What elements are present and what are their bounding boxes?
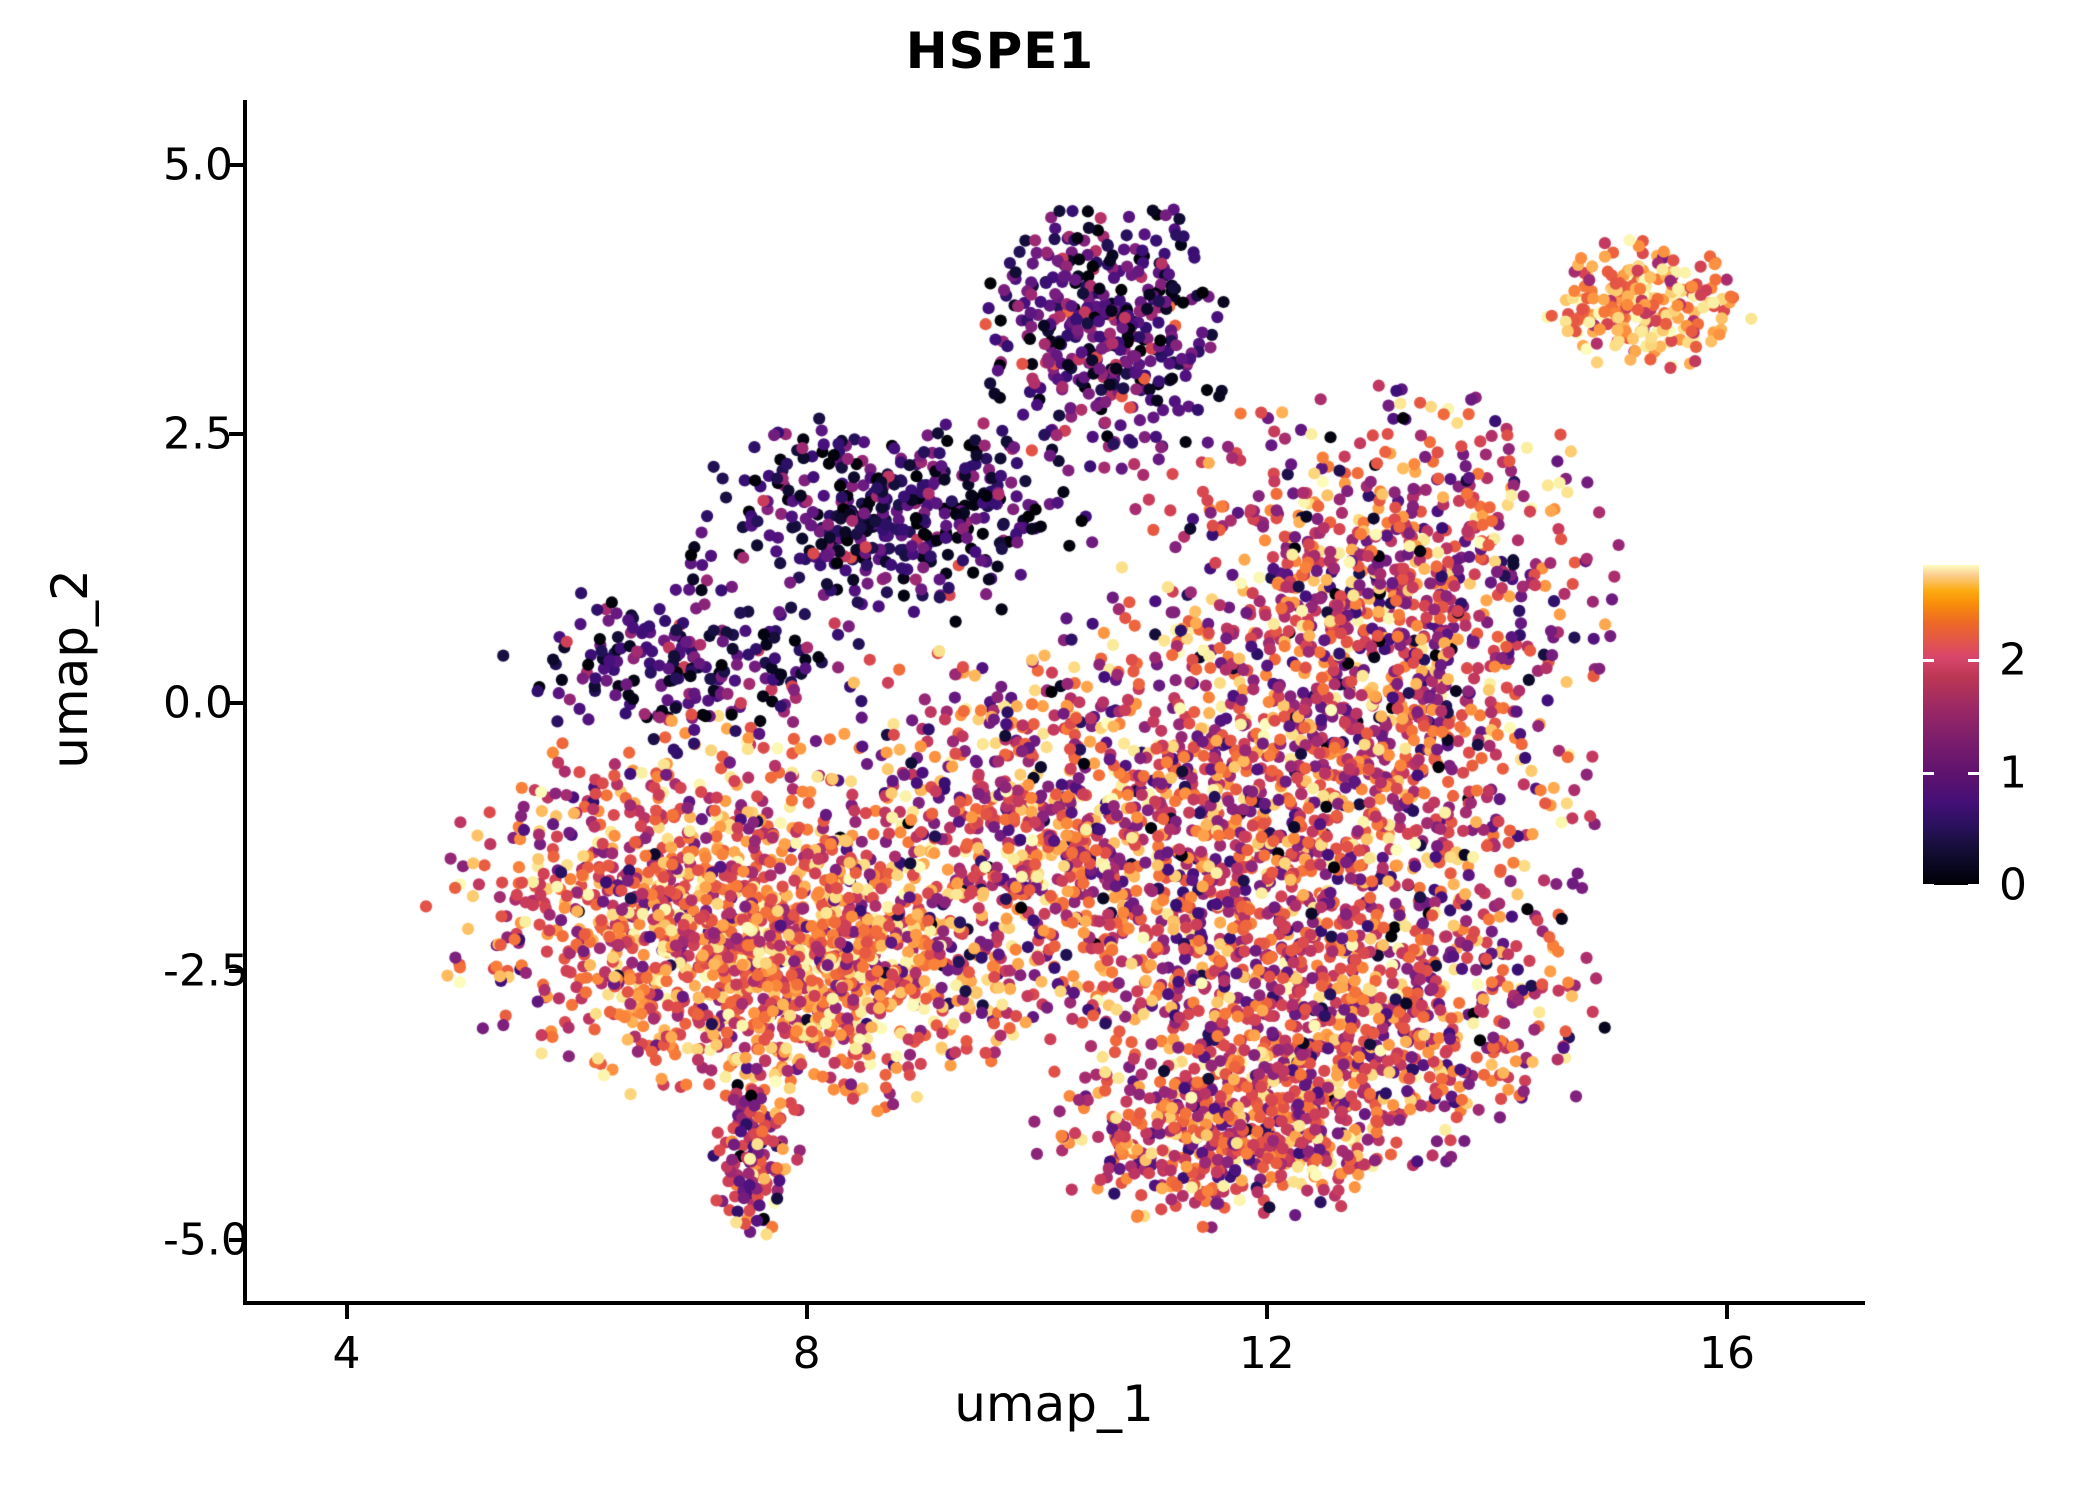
- y-tick-label: 5.0: [163, 139, 203, 190]
- colorbar-tick-mark: [1968, 772, 1979, 775]
- x-tick-mark: [805, 1305, 809, 1319]
- plot-axes: -5.0-2.50.02.55.0 481216: [243, 100, 1865, 1305]
- colorbar-tick-mark: [1923, 659, 1934, 662]
- page-title: HSPE1: [0, 22, 2000, 80]
- x-tick-label: 12: [1239, 1328, 1295, 1379]
- y-tick-label: 2.5: [163, 408, 203, 459]
- colorbar: 012: [1923, 565, 1979, 885]
- x-axis-spine: [243, 1301, 1865, 1305]
- x-axis-label: umap_1: [243, 1375, 1865, 1433]
- colorbar-tick-label: 0: [1999, 860, 2027, 911]
- colorbar-tick-label: 1: [1999, 747, 2027, 798]
- colorbar-tick-label: 2: [1999, 635, 2027, 686]
- colorbar-tick-mark: [1968, 659, 1979, 662]
- colorbar-tick-mark: [1923, 772, 1934, 775]
- scatter-points-canvas: [243, 100, 1865, 1305]
- x-tick-label: 4: [333, 1328, 361, 1379]
- y-tick-label: 0.0: [163, 677, 203, 728]
- x-tick-mark: [1725, 1305, 1729, 1319]
- x-tick-mark: [345, 1305, 349, 1319]
- colorbar-gradient: [1923, 565, 1979, 885]
- colorbar-tick-mark: [1923, 884, 1934, 887]
- y-tick-label: -2.5: [163, 946, 203, 997]
- y-tick-label: -5.0: [163, 1215, 203, 1266]
- x-tick-mark: [1265, 1305, 1269, 1319]
- y-axis-label: umap_2: [41, 319, 99, 1019]
- x-tick-label: 16: [1699, 1328, 1755, 1379]
- colorbar-tick-mark: [1968, 884, 1979, 887]
- y-axis-spine: [243, 100, 247, 1305]
- x-tick-label: 8: [793, 1328, 821, 1379]
- scatter-plot-figure: HSPE1 -5.0-2.50.02.55.0 481216 umap_1 um…: [0, 0, 2100, 1500]
